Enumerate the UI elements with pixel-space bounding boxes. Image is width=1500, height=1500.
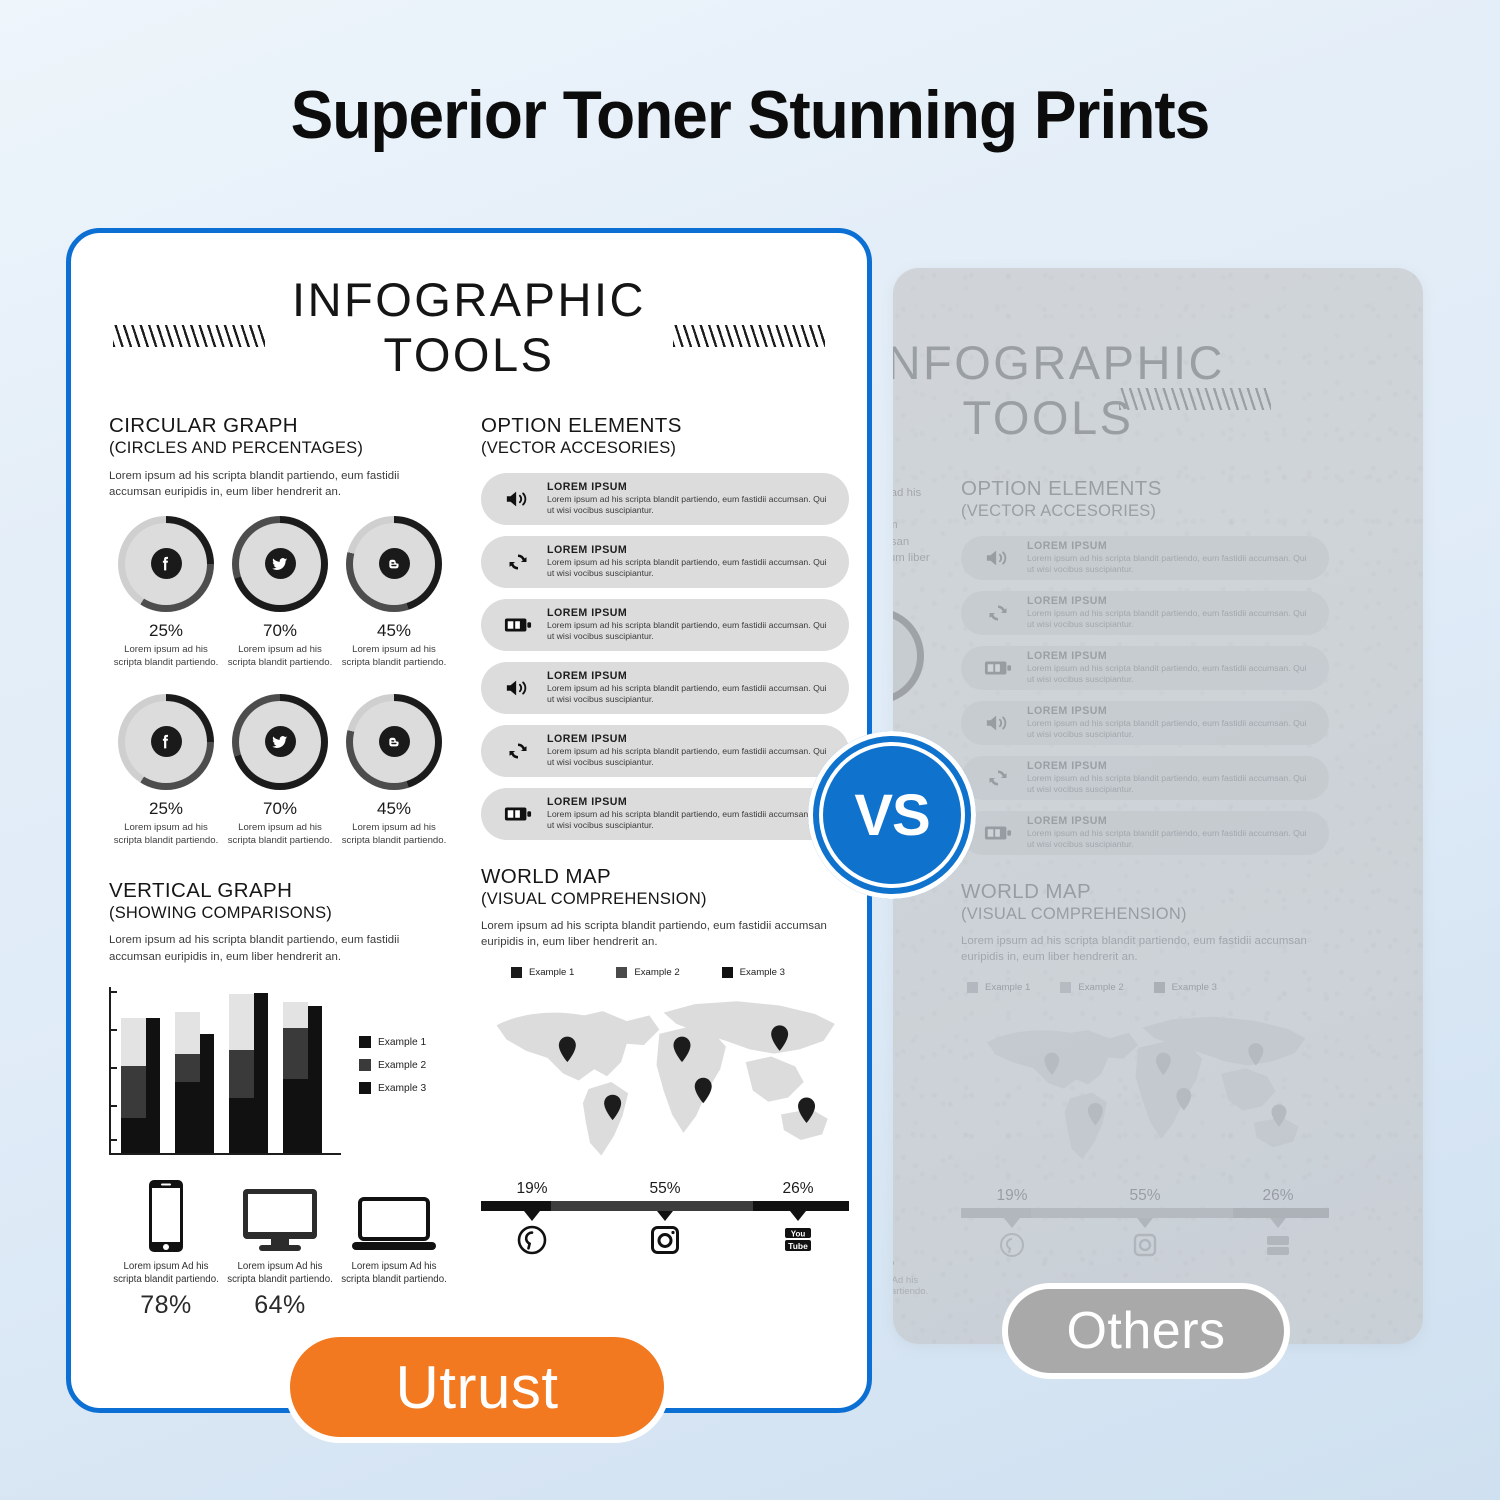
legend-label: Example 2	[634, 967, 679, 978]
donut-chart-blogger	[346, 516, 442, 612]
donut-caption: Lorem ipsum ad his scripta blandit parti…	[223, 822, 337, 848]
svg-text:You: You	[791, 1229, 806, 1238]
bar-segment-example-3	[121, 1018, 146, 1066]
map-legend-item: Example 1	[511, 967, 574, 978]
pill-label: LOREM IPSUM	[1027, 650, 1313, 662]
others-slider-pct: 19%	[977, 1187, 1047, 1205]
option-element-pill[interactable]: LOREM IPSUMLorem ipsum ad his scripta bl…	[961, 646, 1329, 690]
map-legend-item: Example 3	[722, 967, 785, 978]
bar-group	[121, 1018, 160, 1152]
pill-label: LOREM IPSUM	[547, 607, 833, 619]
pill-description: Lorem ipsum ad his scripta blandit parti…	[547, 494, 833, 517]
option-elements-list: LOREM IPSUMLorem ipsum ad his scripta bl…	[481, 473, 849, 840]
donut-percent: 45%	[337, 799, 451, 819]
legend-label: Example 3	[378, 1083, 426, 1094]
smartphone-icon	[109, 1177, 223, 1253]
bar-segment-example-2	[121, 1066, 146, 1117]
facebook-icon	[151, 548, 182, 579]
chart-legend: Example 1Example 2Example 3	[359, 1036, 426, 1105]
pill-label: LOREM IPSUM	[547, 544, 833, 556]
pill-label: LOREM IPSUM	[1027, 760, 1313, 772]
option-element-pill[interactable]: LOREM IPSUMLorem ipsum ad his scripta bl…	[481, 662, 849, 714]
twitter-icon	[265, 726, 296, 757]
option-element-pill[interactable]: LOREM IPSUMLorem ipsum ad his scripta bl…	[961, 701, 1329, 745]
donut-caption: Lorem ipsum ad his scripta blandit parti…	[109, 644, 223, 670]
others-map-legend-item: Example 2	[1060, 982, 1123, 993]
stacked-bar	[121, 1018, 146, 1152]
donut-percent: 25%	[109, 621, 223, 641]
hatch-decoration-right	[1119, 388, 1271, 410]
youtube-icon	[1243, 1232, 1313, 1258]
map-legend-item: Example 2	[616, 967, 679, 978]
pill-label: LOREM IPSUM	[1027, 705, 1313, 717]
others-options-subheading: (VECTOR ACCESORIES)	[961, 501, 1329, 522]
option-element-pill[interactable]: LOREM IPSUMLorem ipsum ad his scripta bl…	[961, 756, 1329, 800]
others-worldmap-heading: WORLD MAP	[961, 879, 1329, 904]
others-brand-badge: Others	[1002, 1283, 1290, 1379]
battery-icon	[497, 804, 539, 824]
vs-label: VS	[854, 782, 929, 849]
donut-percent: 70%	[223, 621, 337, 641]
speaker-icon	[497, 676, 539, 700]
battery-icon	[497, 615, 539, 635]
bar-segment-example-2	[175, 1054, 200, 1083]
legend-label: Example 3	[740, 967, 785, 978]
bar-segment-example-3	[175, 1012, 200, 1054]
pill-description: Lorem ipsum ad his scripta blandit parti…	[1027, 828, 1313, 851]
donut-chart-twitter	[232, 694, 328, 790]
others-title-line1: INFOGRAPHIC	[893, 336, 1225, 389]
world-map-body: Lorem ipsum ad his scripta blandit parti…	[481, 918, 849, 950]
donut-chart-facebook	[118, 694, 214, 790]
twitter-icon	[265, 548, 296, 579]
instagram-icon[interactable]	[630, 1225, 700, 1255]
pill-description: Lorem ipsum ad his scripta blandit parti…	[547, 746, 833, 769]
bar-segment-example-1	[121, 1118, 146, 1153]
bar-segment-example-1	[229, 1098, 254, 1152]
vertical-graph-body: Lorem ipsum ad his scripta blandit parti…	[109, 932, 451, 964]
pill-description: Lorem ipsum ad his scripta blandit parti…	[1027, 553, 1313, 576]
speaker-icon	[977, 546, 1019, 570]
utrust-poster-panel: INFOGRAPHIC TOOLS CIRCULAR GRAPH (CIRCLE…	[66, 228, 872, 1413]
page-title: Superior Toner Stunning Prints	[45, 76, 1455, 154]
refresh-icon	[977, 766, 1019, 790]
battery-icon	[977, 823, 1019, 843]
others-map-legend-item: Example 3	[1154, 982, 1217, 993]
legend-swatch	[359, 1036, 371, 1048]
vertical-bar-chart: Example 1Example 2Example 3	[109, 987, 451, 1155]
option-element-pill[interactable]: LOREM IPSUMLorem ipsum ad his scripta bl…	[961, 536, 1329, 580]
circular-graph-body: Lorem ipsum ad his scripta blandit parti…	[109, 468, 451, 500]
world-map-heading: WORLD MAP	[481, 864, 849, 889]
option-element-pill[interactable]: LOREM IPSUMLorem ipsum ad his scripta bl…	[961, 811, 1329, 855]
chart-legend-item: Example 3	[359, 1082, 426, 1094]
donut-chart-facebook	[118, 516, 214, 612]
slider-caret	[630, 1211, 700, 1221]
bar-overlay	[308, 1006, 322, 1153]
bar-overlay	[254, 993, 268, 1153]
donut-caption: Lorem ipsum ad his scripta blandit parti…	[337, 644, 451, 670]
utrust-brand-label: Utrust	[395, 1353, 558, 1422]
others-slider-pct: 55%	[1110, 1187, 1180, 1205]
donut-caption: Lorem ipsum ad his scripta blandit parti…	[337, 822, 451, 848]
bar-group	[283, 1002, 322, 1152]
bar-overlay	[146, 1018, 160, 1152]
laptop-icon	[893, 1221, 895, 1269]
option-element-pill[interactable]: LOREM IPSUMLorem ipsum ad his scripta bl…	[481, 725, 849, 777]
youtube-icon[interactable]: YouTube	[763, 1225, 833, 1255]
bar-segment-example-1	[175, 1082, 200, 1152]
bar-segment-example-1	[283, 1079, 308, 1153]
utrust-brand-badge: Utrust	[284, 1331, 670, 1443]
others-donut: b	[893, 608, 924, 704]
donut-chart-blogger	[346, 694, 442, 790]
circular-graph-subheading: (CIRCLES AND PERCENTAGES)	[109, 438, 451, 459]
others-world-map	[961, 1003, 1329, 1173]
others-device-caption: Lorem ipsum Ad his scripta blandit parti…	[893, 1275, 931, 1297]
battery-icon	[977, 658, 1019, 678]
slider-percent: 19%	[497, 1180, 567, 1198]
instagram-icon	[1110, 1232, 1180, 1258]
pinterest-icon[interactable]	[497, 1225, 567, 1255]
pill-description: Lorem ipsum ad his scripta blandit parti…	[1027, 608, 1313, 631]
world-map-graphic	[481, 988, 849, 1166]
blogger-icon	[379, 548, 410, 579]
donut-chart-twitter	[232, 516, 328, 612]
speaker-icon	[497, 487, 539, 511]
hatch-decoration-right	[673, 325, 825, 347]
donut-cell-blogger: 45%Lorem ipsum ad his scripta blandit pa…	[337, 516, 451, 670]
device-cell: Lorem ipsum Ad his scripta blandit parti…	[223, 1177, 337, 1320]
donut-caption: Lorem ipsum ad his scripta blandit parti…	[109, 822, 223, 848]
refresh-icon	[497, 550, 539, 574]
slider-caret	[497, 1211, 567, 1221]
vs-badge: VS	[808, 731, 976, 899]
pill-label: LOREM IPSUM	[547, 796, 833, 808]
legend-swatch	[359, 1082, 371, 1094]
poster-title-line1: INFOGRAPHIC	[292, 273, 646, 326]
pill-label: LOREM IPSUM	[547, 733, 833, 745]
pill-label: LOREM IPSUM	[1027, 815, 1313, 827]
world-map-slider: 19%55%26% YouTube	[481, 1180, 849, 1238]
pill-description: Lorem ipsum ad his scripta blandit parti…	[547, 620, 833, 643]
pill-label: LOREM IPSUM	[547, 670, 833, 682]
option-element-pill[interactable]: LOREM IPSUMLorem ipsum ad his scripta bl…	[961, 591, 1329, 635]
others-legend-1: Example 1	[893, 1078, 931, 1089]
bar-segment-example-2	[283, 1028, 308, 1079]
slider-segment	[753, 1201, 849, 1211]
slider-segment	[481, 1201, 551, 1211]
slider-caret	[763, 1211, 833, 1221]
legend-label: Example 2	[378, 1060, 426, 1071]
slider-percent: 26%	[763, 1180, 833, 1198]
donut-percent: 45%	[337, 621, 451, 641]
pill-label: LOREM IPSUM	[1027, 540, 1313, 552]
donut-percent: 70%	[223, 799, 337, 819]
others-worldmap-body: Lorem ipsum ad his scripta blandit parti…	[961, 933, 1329, 965]
chart-legend-item: Example 1	[359, 1036, 426, 1048]
others-worldmap-subheading: (VISUAL COMPREHENSION)	[961, 904, 1329, 925]
slider-percent: 55%	[630, 1180, 700, 1198]
donut-caption: Lorem ipsum ad his scripta blandit parti…	[223, 644, 337, 670]
legend-swatch	[359, 1059, 371, 1071]
device-percent: 78%	[109, 1291, 223, 1320]
pill-description: Lorem ipsum ad his scripta blandit parti…	[547, 683, 833, 706]
option-element-pill[interactable]: LOREM IPSUMLorem ipsum ad his scripta bl…	[481, 536, 849, 588]
option-element-pill[interactable]: LOREM IPSUMLorem ipsum ad his scripta bl…	[481, 473, 849, 525]
refresh-icon	[497, 739, 539, 763]
device-caption: Lorem ipsum Ad his scripta blandit parti…	[109, 1260, 223, 1286]
option-element-pill[interactable]: LOREM IPSUMLorem ipsum ad his scripta bl…	[481, 788, 849, 840]
slider-segment	[551, 1201, 753, 1211]
others-map-legend-item: Example 1	[967, 982, 1030, 993]
donut-cell-blogger: 45%Lorem ipsum ad his scripta blandit pa…	[337, 694, 451, 848]
option-elements-subheading: (VECTOR ACCESORIES)	[481, 438, 849, 459]
chart-legend-item: Example 2	[359, 1059, 426, 1071]
legend-label: Example 1	[529, 967, 574, 978]
speaker-icon	[977, 711, 1019, 735]
vertical-graph-heading: VERTICAL GRAPH	[109, 878, 451, 903]
pill-description: Lorem ipsum ad his scripta blandit parti…	[1027, 718, 1313, 741]
donut-percent: 25%	[109, 799, 223, 819]
others-device-percent: 89%	[893, 1303, 931, 1332]
donut-cell-facebook: 25%Lorem ipsum ad his scripta blandit pa…	[109, 694, 223, 848]
legend-label: Example 1	[378, 1037, 426, 1048]
pill-label: LOREM IPSUM	[1027, 595, 1313, 607]
device-cell: Lorem ipsum Ad his scripta blandit parti…	[337, 1177, 451, 1320]
option-element-pill[interactable]: LOREM IPSUMLorem ipsum ad his scripta bl…	[481, 599, 849, 651]
others-brand-label: Others	[1066, 1301, 1225, 1361]
monitor-icon	[223, 1177, 337, 1253]
blogger-icon	[379, 726, 410, 757]
vertical-graph-subheading: (SHOWING COMPARISONS)	[109, 903, 451, 924]
legend-swatch	[511, 967, 522, 978]
refresh-icon	[977, 601, 1019, 625]
others-circular-body: Lorem ipsum ad his scripta blandit parti…	[893, 485, 931, 582]
pill-label: LOREM IPSUM	[547, 481, 833, 493]
devices-row: Lorem ipsum Ad his scripta blandit parti…	[109, 1177, 451, 1320]
others-slider-pct: 26%	[1243, 1187, 1313, 1205]
laptop-icon	[337, 1177, 451, 1253]
pinterest-icon	[977, 1232, 1047, 1258]
bar-segment-example-3	[283, 1002, 308, 1028]
device-caption: Lorem ipsum Ad his scripta blandit parti…	[337, 1260, 451, 1286]
others-donut-pct: 45%	[893, 713, 917, 733]
others-options-heading: OPTION ELEMENTS	[961, 476, 1329, 501]
facebook-icon	[151, 726, 182, 757]
circular-graph-row-1: 25%Lorem ipsum ad his scripta blandit pa…	[109, 516, 451, 670]
donut-cell-twitter: 70%Lorem ipsum ad his scripta blandit pa…	[223, 516, 337, 670]
donut-cell-twitter: 70%Lorem ipsum ad his scripta blandit pa…	[223, 694, 337, 848]
donut-cell-facebook: 25%Lorem ipsum ad his scripta blandit pa…	[109, 516, 223, 670]
bar-segment-example-2	[229, 1050, 254, 1098]
others-legend-3: Example 3	[893, 1100, 931, 1111]
legend-swatch	[616, 967, 627, 978]
device-percent: 64%	[223, 1291, 337, 1320]
bar-group	[175, 1012, 214, 1153]
pill-description: Lorem ipsum ad his scripta blandit parti…	[1027, 773, 1313, 796]
option-elements-heading: OPTION ELEMENTS	[481, 413, 849, 438]
bar-group	[229, 993, 268, 1153]
stacked-bar	[175, 1012, 200, 1153]
world-map-legend: Example 1Example 2Example 3	[481, 967, 849, 978]
world-map-subheading: (VISUAL COMPREHENSION)	[481, 889, 849, 910]
bar-overlay	[200, 1034, 214, 1152]
device-caption: Lorem ipsum Ad his scripta blandit parti…	[223, 1260, 337, 1286]
svg-text:Tube: Tube	[788, 1241, 808, 1251]
circular-graph-row-2: 25%Lorem ipsum ad his scripta blandit pa…	[109, 694, 451, 848]
pill-description: Lorem ipsum ad his scripta blandit parti…	[547, 557, 833, 580]
hatch-decoration-left	[113, 325, 265, 347]
circular-graph-heading: CIRCULAR GRAPH	[109, 413, 451, 438]
others-legend-2: Example 2	[893, 1089, 931, 1100]
pill-description: Lorem ipsum ad his scripta blandit parti…	[1027, 663, 1313, 686]
legend-swatch	[722, 967, 733, 978]
pill-description: Lorem ipsum ad his scripta blandit parti…	[547, 809, 833, 832]
stacked-bar	[283, 1002, 308, 1152]
bar-segment-example-3	[229, 994, 254, 1050]
device-cell: Lorem ipsum Ad his scripta blandit parti…	[109, 1177, 223, 1320]
stacked-bar	[229, 994, 254, 1152]
